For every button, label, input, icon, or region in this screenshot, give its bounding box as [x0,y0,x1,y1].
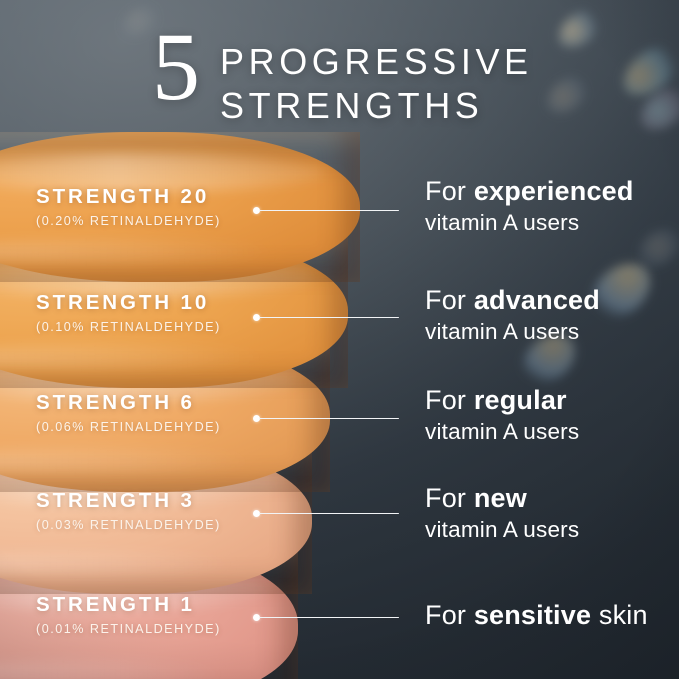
swatch-subtitle: (0.10% RETINALDEHYDE) [36,321,221,335]
description-prefix: For [425,483,474,513]
swatch-label-strength-1: STRENGTH 1 (0.01% RETINALDEHYDE) [36,594,221,636]
description-prefix: For [425,176,474,206]
description-strength-1: For sensitive skin [425,600,648,631]
headline-text: PROGRESSIVE STRENGTHS [220,28,533,128]
description-suffix: skin [591,600,648,630]
headline-number: 5 [152,28,198,107]
swatch-title: STRENGTH 1 [36,594,221,617]
headline-line-1: PROGRESSIVE [220,40,533,84]
page-title: 5 PROGRESSIVE STRENGTHS [152,28,533,128]
description-line-2: vitamin A users [425,516,579,543]
swatch-label-strength-10: STRENGTH 10 (0.10% RETINALDEHYDE) [36,292,221,334]
swatch-label-strength-6: STRENGTH 6 (0.06% RETINALDEHYDE) [36,392,221,434]
description-keyword: experienced [474,176,634,206]
description-line-1: For experienced [425,176,634,207]
description-strength-6: For regular vitamin A users [425,385,579,445]
swatch-label-strength-3: STRENGTH 3 (0.03% RETINALDEHYDE) [36,490,221,532]
swatch-subtitle: (0.06% RETINALDEHYDE) [36,421,221,435]
swatch-subtitle: (0.01% RETINALDEHYDE) [36,623,221,637]
description-prefix: For [425,285,474,315]
description-line-2: vitamin A users [425,318,600,345]
description-line-1: For sensitive skin [425,600,648,631]
product-strengths-infographic: 5 PROGRESSIVE STRENGTHS STRENGTH 20 (0.2… [0,0,679,679]
description-line-2: vitamin A users [425,418,579,445]
swatch-label-strength-20: STRENGTH 20 (0.20% RETINALDEHYDE) [36,186,221,228]
description-line-1: For regular [425,385,579,416]
swatch-title: STRENGTH 6 [36,392,221,415]
swatch-title: STRENGTH 3 [36,490,221,513]
swatch-subtitle: (0.20% RETINALDEHYDE) [36,215,221,229]
description-line-2: vitamin A users [425,209,634,236]
swatch-title: STRENGTH 20 [36,186,221,209]
description-line-1: For new [425,483,579,514]
headline-line-2: STRENGTHS [220,84,533,128]
description-strength-3: For new vitamin A users [425,483,579,543]
description-prefix: For [425,385,474,415]
description-keyword: new [474,483,527,513]
description-line-1: For advanced [425,285,600,316]
description-keyword: sensitive [474,600,591,630]
description-keyword: regular [474,385,567,415]
description-strength-20: For experienced vitamin A users [425,176,634,236]
swatch-subtitle: (0.03% RETINALDEHYDE) [36,519,221,533]
description-prefix: For [425,600,474,630]
description-keyword: advanced [474,285,600,315]
description-strength-10: For advanced vitamin A users [425,285,600,345]
swatch-title: STRENGTH 10 [36,292,221,315]
